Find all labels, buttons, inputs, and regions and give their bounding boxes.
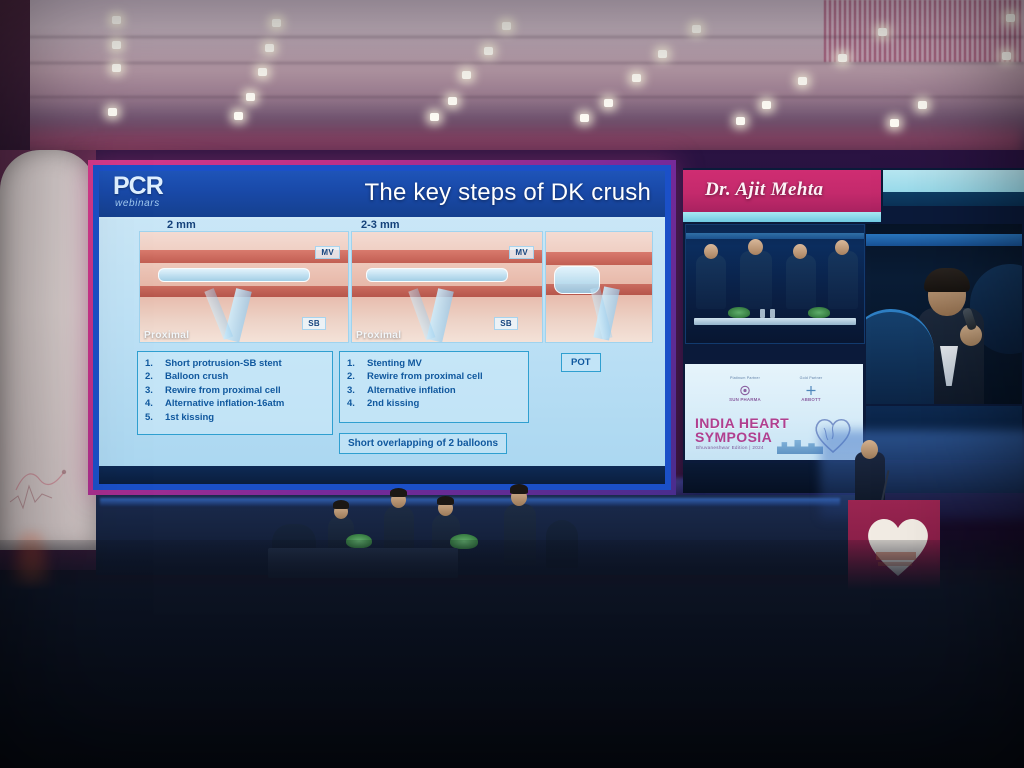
right-steps-items: Stenting MV Rewire from proximal cell Al… [347,357,521,411]
list-item: Short protrusion-SB stent [165,357,325,370]
sponsor-left-name: SUN PHARMA [717,397,773,402]
mv-label-1: MV [315,246,340,259]
dimension-label-1: 2 mm [167,219,196,231]
pot-label-box: POT [561,353,601,372]
podium-speaker-head [861,440,878,459]
sb-label-1: SB [302,317,326,330]
pcr-logo-subtext: webinars [115,198,160,209]
vessel-illustration-2: MV SB Proximal [351,231,543,343]
sb-label-2: SB [494,317,518,330]
left-steps-items: Short protrusion-SB stent Balloon crush … [145,357,325,424]
screen-blue-frame: PCR webinars The key steps of DK crush 2… [93,165,671,490]
ceiling-left-corner [0,0,30,160]
podium-speaker-body [855,452,885,504]
slide-footer-band [99,466,665,484]
main-projection-screen: PCR webinars The key steps of DK crush 2… [88,160,676,495]
speaker-closeup-feed [866,224,1022,404]
slide-header: PCR webinars The key steps of DK crush [99,171,665,219]
right-screen-top-strip-2 [883,192,1024,206]
right-steps-list: Stenting MV Rewire from proximal cell Al… [339,351,529,423]
slide-caption: Short overlapping of 2 balloons [339,433,507,454]
sponsor-right-name: ABBOTT [783,397,839,402]
proximal-label-1: Proximal [144,330,189,341]
vessel-illustration-1: MV SB Proximal [139,231,349,343]
conference-hall-photo: Journal & Tech (EMS ) PCR webinars The k… [0,0,1024,768]
event-logo-line2: SYMPOSIA [695,430,772,445]
list-item: 1st kissing [165,411,325,424]
sponsor-right-label: Gold Partner [783,376,839,380]
ceiling-curtain-fringe [824,0,1024,62]
right-screen-top-strip [883,170,1024,192]
panel-discussion-feed [685,224,865,344]
pcr-logo: PCR [113,175,163,198]
list-item: Balloon crush [165,370,325,383]
list-item: Alternative inflation [367,384,521,397]
speaker-name: Dr. Ajit Mehta [705,179,823,201]
vessel-illustration-3-pot [545,231,653,343]
slide-title: The key steps of DK crush [365,179,651,207]
seated-audience [0,540,1024,768]
left-banner: Journal & Tech (EMS ) [0,150,96,550]
dimension-label-2: 2-3 mm [361,219,400,231]
sponsor-left-icon [738,385,752,396]
sponsor-left-label: Platinum Partner [717,376,773,380]
left-steps-list: Short protrusion-SB stent Balloon crush … [137,351,333,435]
presentation-slide: PCR webinars The key steps of DK crush 2… [99,171,665,484]
event-logo-tagline: Bhuvaneshwar Edition | 2024 [696,445,764,450]
stage-floor-light-band [100,498,840,506]
banner-graphic [6,450,76,520]
speaker-name-bar: Dr. Ajit Mehta [683,170,881,212]
list-item: Rewire from proximal cell [367,370,521,383]
list-item: 2nd kissing [367,397,521,410]
list-item: Rewire from proximal cell [165,384,325,397]
mv-label-2: MV [509,246,534,259]
list-item: Stenting MV [367,357,521,370]
proximal-label-2: Proximal [356,330,401,341]
name-bar-underline [683,212,881,222]
sponsor-right-icon [804,385,818,396]
list-item: Alternative inflation-16atm [165,397,325,410]
